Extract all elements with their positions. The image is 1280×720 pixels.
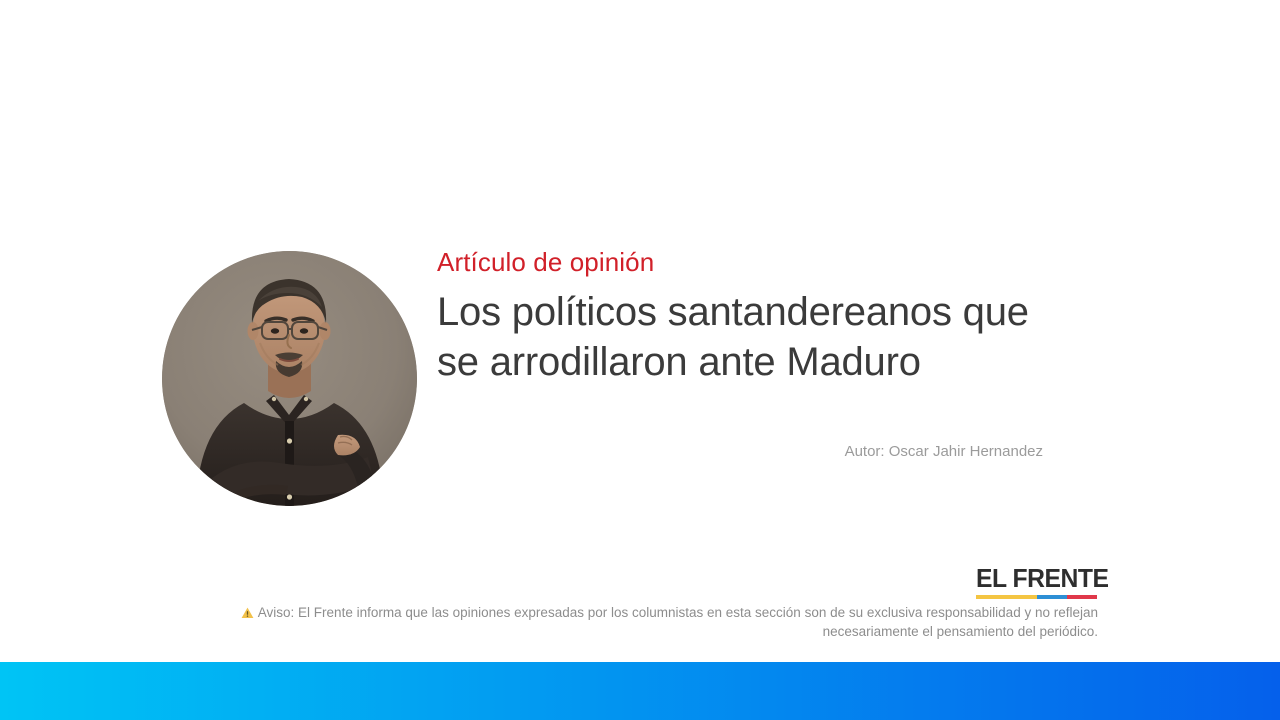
- logo-bar-red-segment: [1067, 595, 1097, 599]
- bottom-accent-bar: [0, 662, 1280, 720]
- article-kicker: Artículo de opinión: [437, 247, 654, 277]
- el-frente-wordmark: EL FRENTE: [976, 564, 1091, 592]
- author-portrait-illustration: [162, 251, 417, 506]
- article-author: Autor: Oscar Jahir Hernandez: [437, 442, 1043, 462]
- article-headline: Los políticos santandereanos que se arro…: [437, 287, 1062, 387]
- disclaimer-text: Aviso: El Frente informa que las opinion…: [258, 605, 1098, 639]
- el-frente-tricolor-bar: [976, 595, 1097, 599]
- author-portrait: [162, 251, 417, 506]
- logo-bar-yellow-segment: [976, 595, 1037, 599]
- opinion-article-slide: Artículo de opinión Los políticos santan…: [0, 0, 1280, 720]
- logo-bar-blue-segment: [1037, 595, 1067, 599]
- el-frente-logo: EL FRENTE: [976, 564, 1097, 599]
- warning-triangle-icon: [241, 606, 254, 623]
- disclaimer-notice: Aviso: El Frente informa que las opinion…: [190, 604, 1098, 640]
